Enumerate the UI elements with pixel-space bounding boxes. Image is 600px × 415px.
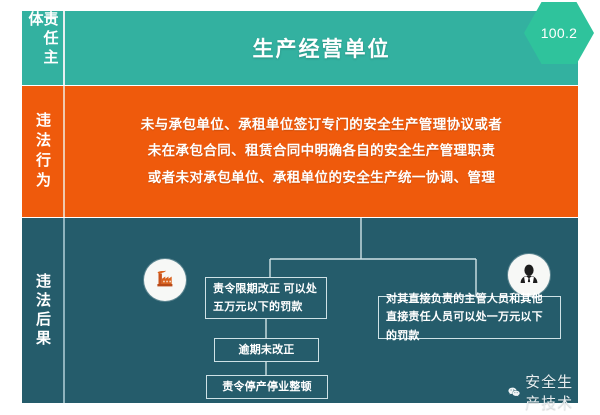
wechat-icon <box>508 383 520 401</box>
watermark-text: 安全生产技术 <box>525 371 578 413</box>
row-label-cell-act: 违法行为 <box>22 86 65 217</box>
factory-glyph <box>152 267 178 293</box>
act-line-2: 未在承包合同、租赁合同中明确各自的安全生产管理职责 <box>141 138 502 164</box>
row-illegal-act: 违法行为 未与承包单位、承租单位签订专门的安全生产管理协议或者 未在承包合同、租… <box>22 86 578 217</box>
badge-number: 100.2 <box>524 2 594 64</box>
table-frame: 责任主体 生产经营单位 违法行为 未与承包单位、承租单位签订专门的安全生产管理协… <box>22 11 578 403</box>
row-responsible-subject: 责任主体 生产经营单位 <box>22 11 578 85</box>
node-person-in-charge-fine: 对其直接负责的主管人员和其他直接责任人员可以处一万元以下的罚款 <box>378 296 561 339</box>
row-body-act: 未与承包单位、承租单位签订专门的安全生产管理协议或者 未在承包合同、租赁合同中明… <box>65 86 578 217</box>
node-person-in-charge-fine-text: 对其直接负责的主管人员和其他直接责任人员可以处一万元以下的罚款 <box>386 290 553 344</box>
node-overdue: 逾期未改正 <box>214 338 319 362</box>
infographic-poster: 100.2 责任主体 生产经营单位 违法行为 未与承包单位、承租单位签订专门的安… <box>0 0 600 415</box>
consequence-diagram: 责令限期改正 可以处五万元以下的罚款 逾期未改正 责令停产停业整顿 对其直接负责… <box>65 218 578 403</box>
watermark: 安全生产技术 <box>508 371 578 413</box>
row-label-act: 违法行为 <box>35 112 50 192</box>
illegal-act-text: 未与承包单位、承租单位签订专门的安全生产管理协议或者 未在承包合同、租赁合同中明… <box>141 112 502 191</box>
row-label-cell-subject: 责任主体 <box>22 11 65 85</box>
factory-icon <box>144 259 186 301</box>
node-order-correction: 责令限期改正 可以处五万元以下的罚款 <box>205 277 327 319</box>
businessman-glyph <box>516 262 542 288</box>
act-line-3: 或者未对承包单位、承租单位的安全生产统一协调、管理 <box>141 165 502 191</box>
row-label-consequence: 违法后果 <box>35 273 50 349</box>
node-overdue-text: 逾期未改正 <box>239 341 295 359</box>
act-line-1: 未与承包单位、承租单位签订专门的安全生产管理协议或者 <box>141 112 502 138</box>
subject-title: 生产经营单位 <box>253 33 391 63</box>
row-label-cell-consequence: 违法后果 <box>22 218 65 403</box>
row-label-subject: 责任主体 <box>28 11 58 85</box>
article-number-badge: 100.2 <box>524 2 594 64</box>
node-order-correction-text: 责令限期改正 可以处五万元以下的罚款 <box>213 280 319 316</box>
row-body-subject: 生产经营单位 <box>65 11 578 85</box>
node-order-shutdown-text: 责令停产停业整顿 <box>222 378 312 396</box>
row-body-consequence: 责令限期改正 可以处五万元以下的罚款 逾期未改正 责令停产停业整顿 对其直接负责… <box>65 218 578 403</box>
node-order-shutdown: 责令停产停业整顿 <box>206 375 328 399</box>
row-legal-consequence: 违法后果 <box>22 218 578 403</box>
